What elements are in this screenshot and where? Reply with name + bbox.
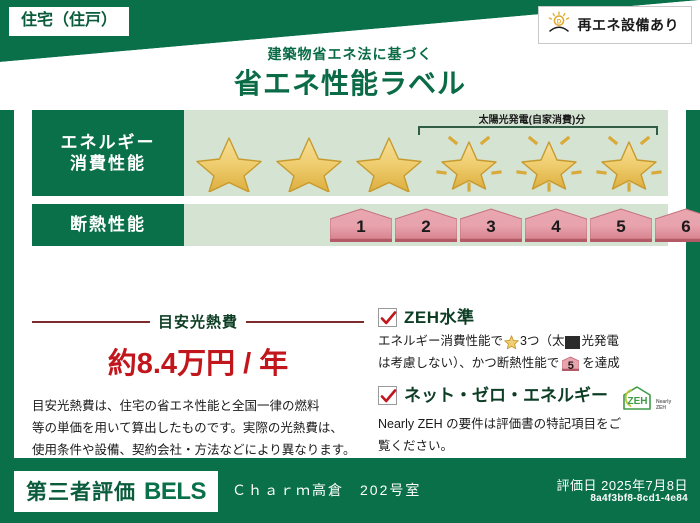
inline-grade-value: 5: [562, 357, 579, 376]
check-desc-net-zero-energy: Nearly ZEH の要件は評価書の特記項目をご 覧ください。: [378, 414, 674, 457]
zeh-desc-text-e: を達成: [582, 353, 620, 375]
insulation-grade-6-value: 6: [655, 217, 700, 237]
zeh-house-logo: ZEH Nearly ZEH: [620, 385, 671, 411]
cost-desc-line-3: 使用条件や設備、契約会社・方法などにより異なります。: [32, 440, 364, 462]
svg-text:ZEH: ZEH: [628, 396, 648, 407]
building-name: Ｃｈａｒｍ高倉 202号室: [232, 480, 421, 500]
insulation-grade-1: 1: [330, 207, 392, 243]
utility-cost-description: 目安光熱費は、住宅の省エネ性能と全国一律の燃料 等の単価を用いて算出したものです…: [32, 396, 364, 462]
insulation-performance-row: 断熱性能: [32, 204, 668, 246]
utility-cost-heading: 目安光熱費: [32, 311, 364, 332]
utility-cost-panel: 目安光熱費 約8.4万円 / 年 目安光熱費は、住宅の省エネ性能と全国一律の燃料…: [14, 305, 378, 468]
insulation-grade-5: 5: [590, 207, 652, 243]
energy-performance-row: エネルギー 消費性能 太陽光発電(自家消費)分: [32, 110, 668, 196]
category-chip: 住宅（住戸）: [8, 6, 130, 37]
star-1: [190, 132, 268, 192]
solar-generation-note: 太陽光発電(自家消費)分: [402, 111, 662, 126]
label-title: 省エネ性能ラベル: [0, 62, 700, 102]
svg-text:D: D: [556, 19, 561, 25]
label-subtitle: 建築物省エネ法に基づく: [0, 44, 700, 64]
footer-bar: 第三者評価 BELS Ｃｈａｒｍ高倉 202号室 評価日 2025年7月8日 8…: [0, 463, 700, 523]
check-desc-zeh-suijun: エネルギー消費性能で 3つ（太 光発電 は考慮しない）、かつ断熱性能で: [378, 331, 674, 374]
utility-cost-heading-text: 目安光熱費: [158, 311, 238, 332]
check-desc-nze-line-2: 覧ください。: [378, 436, 674, 458]
lower-section: 目安光熱費 約8.4万円 / 年 目安光熱費は、住宅の省エネ性能と全国一律の燃料…: [14, 305, 686, 468]
star-2: [270, 132, 348, 192]
check-desc-nze-line-1: Nearly ZEH の要件は評価書の特記項目をご: [378, 414, 674, 436]
insulation-grade-4-value: 4: [525, 217, 587, 237]
insulation-grade-3-value: 3: [460, 217, 522, 237]
checkbox-zeh-suijun[interactable]: [378, 308, 397, 327]
renewable-equipment-badge: D 再エネ設備あり: [538, 6, 693, 44]
check-desc-zeh-line-2: は考慮しない）、かつ断熱性能で 5 を達成: [378, 353, 674, 375]
insulation-grade-2-value: 2: [395, 217, 457, 237]
insulation-performance-body: 1 2 3: [184, 204, 668, 246]
energy-performance-label: エネルギー 消費性能: [32, 110, 184, 196]
performance-rows: エネルギー 消費性能 太陽光発電(自家消費)分: [32, 110, 668, 254]
checkmark-icon: [380, 388, 397, 405]
certification-checks-panel: ZEH水準 エネルギー消費性能で 3つ（太 光発電 は考慮しない）、かつ断熱性能…: [378, 305, 686, 468]
insulation-grade-5-value: 5: [590, 217, 652, 237]
cost-rule-right: [246, 321, 364, 323]
star-icon: [504, 335, 519, 350]
insulation-grade-3: 3: [460, 207, 522, 243]
sun-renewable-icon: D: [547, 11, 571, 38]
utility-cost-value: 約8.4万円 / 年: [32, 340, 364, 382]
evaluation-date: 評価日 2025年7月8日: [557, 475, 689, 494]
bels-logo-text: BELS: [144, 478, 206, 506]
insulation-grade-2: 2: [395, 207, 457, 243]
renewable-badge-label: 再エネ設備あり: [578, 15, 680, 35]
energy-label-line1: エネルギー: [61, 132, 156, 153]
redacted-char: [565, 336, 580, 349]
check-item-zeh-suijun: ZEH水準: [378, 307, 674, 328]
insulation-grade-4: 4: [525, 207, 587, 243]
check-title-zeh-suijun: ZEH水準: [404, 307, 475, 328]
third-party-evaluation-chip: 第三者評価 BELS: [14, 471, 218, 512]
star-6-solar: [590, 132, 668, 192]
main-card: エネルギー 消費性能 太陽光発電(自家消費)分: [14, 100, 686, 458]
cost-desc-line-2: 等の単価を用いて算出したものです。実際の光熱費は、: [32, 418, 364, 440]
energy-star-rating: [190, 132, 668, 192]
evaluation-id: 8a4f3bf8-8cd1-4e84: [590, 493, 688, 504]
zeh-nearly-line-2: ZEH: [656, 405, 666, 411]
check-item-net-zero-energy: ネット・ゼロ・エネルギー ZEH Nearly ZEH: [378, 385, 674, 411]
energy-performance-body: 太陽光発電(自家消費)分: [184, 110, 668, 196]
star-3: [350, 132, 428, 192]
check-desc-zeh-line-1: エネルギー消費性能で 3つ（太 光発電: [378, 331, 674, 353]
star-5-solar: [510, 132, 588, 192]
zeh-desc-text-a: エネルギー消費性能で: [378, 331, 503, 353]
energy-label-line2: 消費性能: [70, 153, 146, 174]
zeh-desc-text-c: 光発電: [581, 331, 619, 353]
cost-desc-line-1: 目安光熱費は、住宅の省エネ性能と全国一律の燃料: [32, 396, 364, 418]
insulation-grade-list: 1 2 3: [330, 207, 700, 243]
zeh-desc-text-d: は考慮しない）、かつ断熱性能で: [378, 353, 559, 375]
check-title-net-zero-energy: ネット・ゼロ・エネルギー: [404, 385, 608, 406]
inline-grade-badge-5: 5: [562, 356, 579, 371]
checkbox-net-zero-energy[interactable]: [378, 386, 397, 405]
insulation-grade-1-value: 1: [330, 217, 392, 237]
star-4-solar: [430, 132, 508, 192]
cost-rule-left: [32, 321, 150, 323]
zeh-logo-nearly-text: Nearly ZEH: [656, 400, 671, 411]
third-party-label: 第三者評価: [26, 476, 136, 506]
insulation-grade-6: 6: [655, 207, 700, 243]
zeh-desc-text-b: 3つ（太: [520, 331, 564, 353]
insulation-performance-label: 断熱性能: [32, 204, 184, 246]
checkmark-icon: [380, 310, 397, 327]
